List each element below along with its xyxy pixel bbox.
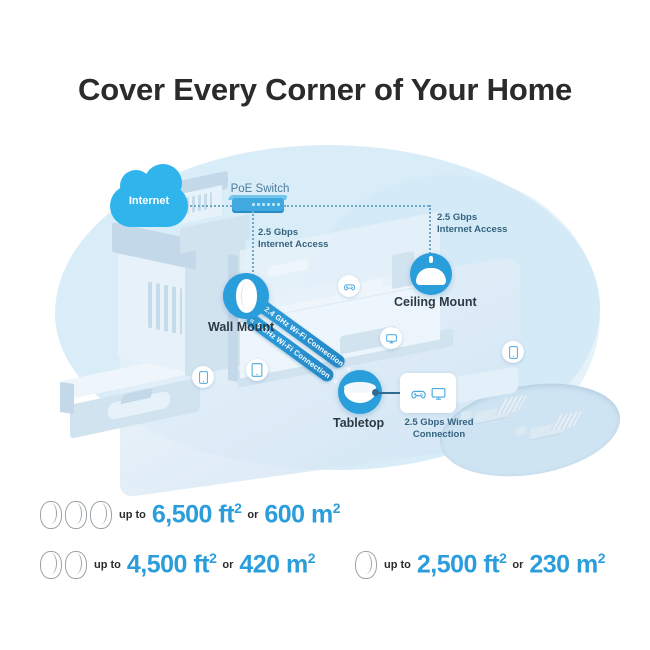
coverage-or: or bbox=[512, 559, 523, 571]
coverage-sqm-value: 420 m bbox=[239, 550, 307, 578]
ceiling-mount-stem bbox=[429, 256, 433, 263]
coverage-prefix: up to bbox=[119, 509, 146, 521]
marketing-page: Cover Every Corner of Your Home bbox=[0, 0, 650, 650]
badge-phone-hall bbox=[192, 366, 214, 388]
internet-label: Internet bbox=[110, 195, 188, 207]
tabletop-label: Tabletop bbox=[333, 416, 384, 430]
wired-clients-card bbox=[400, 373, 456, 413]
house-right-column bbox=[228, 254, 238, 382]
coverage-or: or bbox=[222, 559, 233, 571]
mesh-unit-icon bbox=[65, 551, 87, 579]
gamepad-icon bbox=[343, 280, 356, 293]
ceiling-mount-dome bbox=[416, 268, 446, 285]
monitor-icon bbox=[430, 385, 447, 402]
coverage-unit-icons bbox=[40, 551, 87, 579]
label-line-2: Internet Access bbox=[258, 239, 328, 250]
mesh-unit-icon bbox=[65, 501, 87, 529]
coverage-sqft-value: 6,500 ft bbox=[152, 500, 234, 528]
wall-mount-device-body bbox=[236, 279, 257, 313]
coverage-sqft: 6,500 ft2 bbox=[152, 500, 241, 529]
label-line-2: Internet Access bbox=[437, 224, 507, 235]
coverage-3-pack: up to 6,500 ft2 or 600 m2 bbox=[40, 500, 340, 529]
coverage-unit-icons bbox=[40, 501, 112, 529]
label-wired-connection: 2.5 Gbps Wired Connection bbox=[396, 417, 482, 440]
coverage-sqm-exponent: 2 bbox=[308, 550, 315, 566]
label-line-2: Connection bbox=[413, 429, 465, 440]
link-switch-down-right bbox=[429, 205, 431, 257]
coverage-sqft-value: 2,500 ft bbox=[417, 550, 499, 578]
coverage-prefix: up to bbox=[94, 559, 121, 571]
coverage-sqm: 420 m2 bbox=[239, 550, 315, 579]
coverage-1-pack: up to 2,500 ft2 or 230 m2 bbox=[355, 550, 605, 579]
coverage-sqm-exponent: 2 bbox=[333, 500, 340, 516]
badge-gamepad bbox=[338, 275, 360, 297]
smartphone-icon bbox=[198, 371, 209, 384]
coverage-sqft-exponent: 2 bbox=[209, 550, 216, 566]
coverage-or: or bbox=[247, 509, 258, 521]
link-cloud-to-switch bbox=[190, 205, 232, 207]
gamepad-icon bbox=[410, 385, 427, 402]
house-window-band-left bbox=[148, 281, 182, 334]
label-line-1: 2.5 Gbps bbox=[437, 212, 477, 223]
coverage-sqft-exponent: 2 bbox=[499, 550, 506, 566]
label-line-1: 2.5 Gbps bbox=[258, 227, 298, 238]
mesh-unit-icon bbox=[90, 501, 112, 529]
coverage-2-pack: up to 4,500 ft2 or 420 m2 bbox=[40, 550, 315, 579]
label-internet-access-right: 2.5 Gbps Internet Access bbox=[437, 212, 507, 235]
link-switch-to-right bbox=[284, 205, 429, 207]
mesh-unit-icon bbox=[355, 551, 377, 579]
coverage-prefix: up to bbox=[384, 559, 411, 571]
coverage-sqft: 2,500 ft2 bbox=[417, 550, 506, 579]
poe-switch-label: PoE Switch bbox=[190, 183, 330, 195]
mesh-unit-icon bbox=[40, 501, 62, 529]
home-coverage-diagram: Internet PoE Switch 2.5 Gbps Internet Ac… bbox=[0, 135, 650, 480]
coverage-sqm-value: 600 m bbox=[264, 500, 332, 528]
label-internet-access-left: 2.5 Gbps Internet Access bbox=[258, 227, 328, 250]
wired-link-line bbox=[376, 392, 402, 394]
badge-phone-poolside bbox=[502, 341, 524, 363]
coverage-sqm-value: 230 m bbox=[529, 550, 597, 578]
network-switch-icon bbox=[232, 198, 284, 211]
coverage-sqm-exponent: 2 bbox=[598, 550, 605, 566]
coverage-sqm: 230 m2 bbox=[529, 550, 605, 579]
ceiling-mount-ap-icon[interactable] bbox=[410, 253, 452, 295]
ceiling-mount-label: Ceiling Mount bbox=[394, 295, 477, 309]
badge-monitor bbox=[380, 327, 402, 349]
ceiling-mount-device-body bbox=[415, 262, 447, 286]
coverage-sqm: 600 m2 bbox=[264, 500, 340, 529]
smartphone-icon bbox=[508, 346, 519, 359]
label-line-1: 2.5 Gbps Wired bbox=[404, 417, 473, 428]
house-carport-side bbox=[60, 382, 74, 414]
switch-port-leds bbox=[252, 203, 280, 206]
coverage-unit-icons bbox=[355, 551, 377, 579]
mesh-unit-icon bbox=[40, 551, 62, 579]
coverage-sqft: 4,500 ft2 bbox=[127, 550, 216, 579]
badge-tablet-room bbox=[246, 359, 268, 381]
coverage-sqft-exponent: 2 bbox=[234, 500, 241, 516]
wall-mount-ap-icon[interactable] bbox=[223, 273, 269, 319]
page-title: Cover Every Corner of Your Home bbox=[0, 72, 650, 108]
wall-mount-label: Wall Mount bbox=[208, 320, 274, 334]
tablet-icon bbox=[251, 363, 263, 377]
coverage-sqft-value: 4,500 ft bbox=[127, 550, 209, 578]
monitor-icon bbox=[385, 332, 398, 345]
